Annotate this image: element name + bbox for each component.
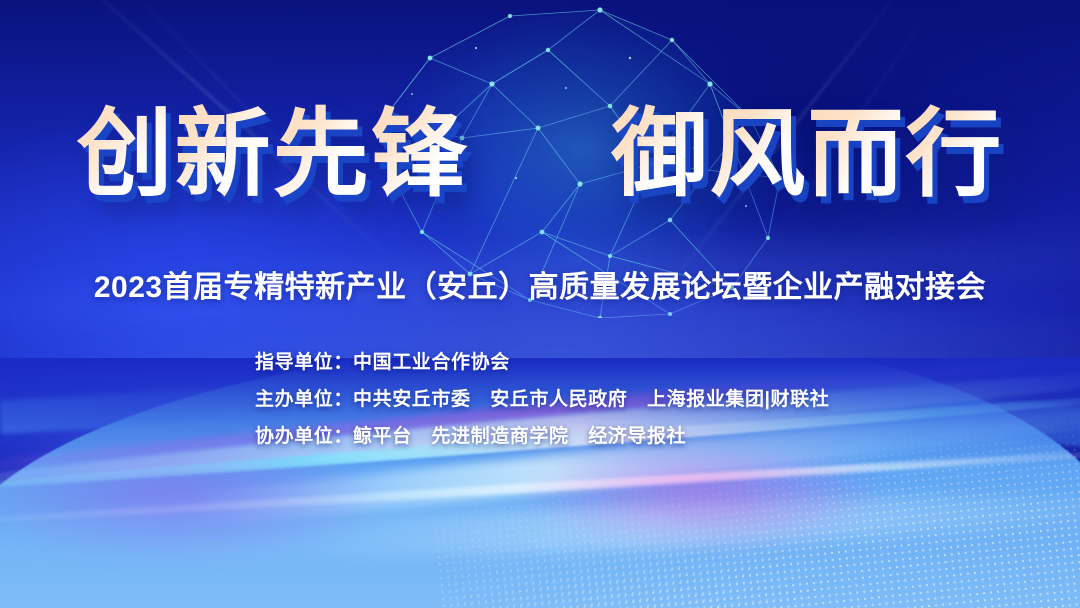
main-title-char: 锋 — [371, 104, 469, 205]
main-title-char: 新 — [175, 104, 273, 205]
organizer-line-coorganizer: 协办单位：鲸平台 先进制造商学院 经济导报社 — [255, 418, 829, 455]
main-title: 创新先锋 御风而行 — [0, 104, 1080, 205]
event-poster: 创新先锋 御风而行 2023首届专精特新产业（安丘）高质量发展论坛暨企业产融对接… — [0, 0, 1080, 608]
main-title-segment-1: 创新先锋 — [77, 104, 469, 205]
main-title-char: 而 — [807, 104, 905, 205]
main-title-char: 先 — [273, 104, 371, 205]
main-title-char: 行 — [905, 104, 1003, 205]
main-title-char: 风 — [709, 104, 807, 205]
main-title-segment-2: 御风而行 — [611, 104, 1003, 205]
organizer-line-guidance: 指导单位：中国工业合作协会 — [255, 344, 829, 381]
poster-content: 创新先锋 御风而行 2023首届专精特新产业（安丘）高质量发展论坛暨企业产融对接… — [0, 0, 1080, 608]
main-title-char: 创 — [77, 104, 175, 205]
organizer-line-host: 主办单位：中共安丘市委 安丘市人民政府 上海报业集团|财联社 — [255, 381, 829, 418]
main-title-char: 御 — [611, 104, 709, 205]
organizer-list: 指导单位：中国工业合作协会 主办单位：中共安丘市委 安丘市人民政府 上海报业集团… — [255, 344, 829, 455]
event-subtitle: 2023首届专精特新产业（安丘）高质量发展论坛暨企业产融对接会 — [0, 262, 1080, 306]
